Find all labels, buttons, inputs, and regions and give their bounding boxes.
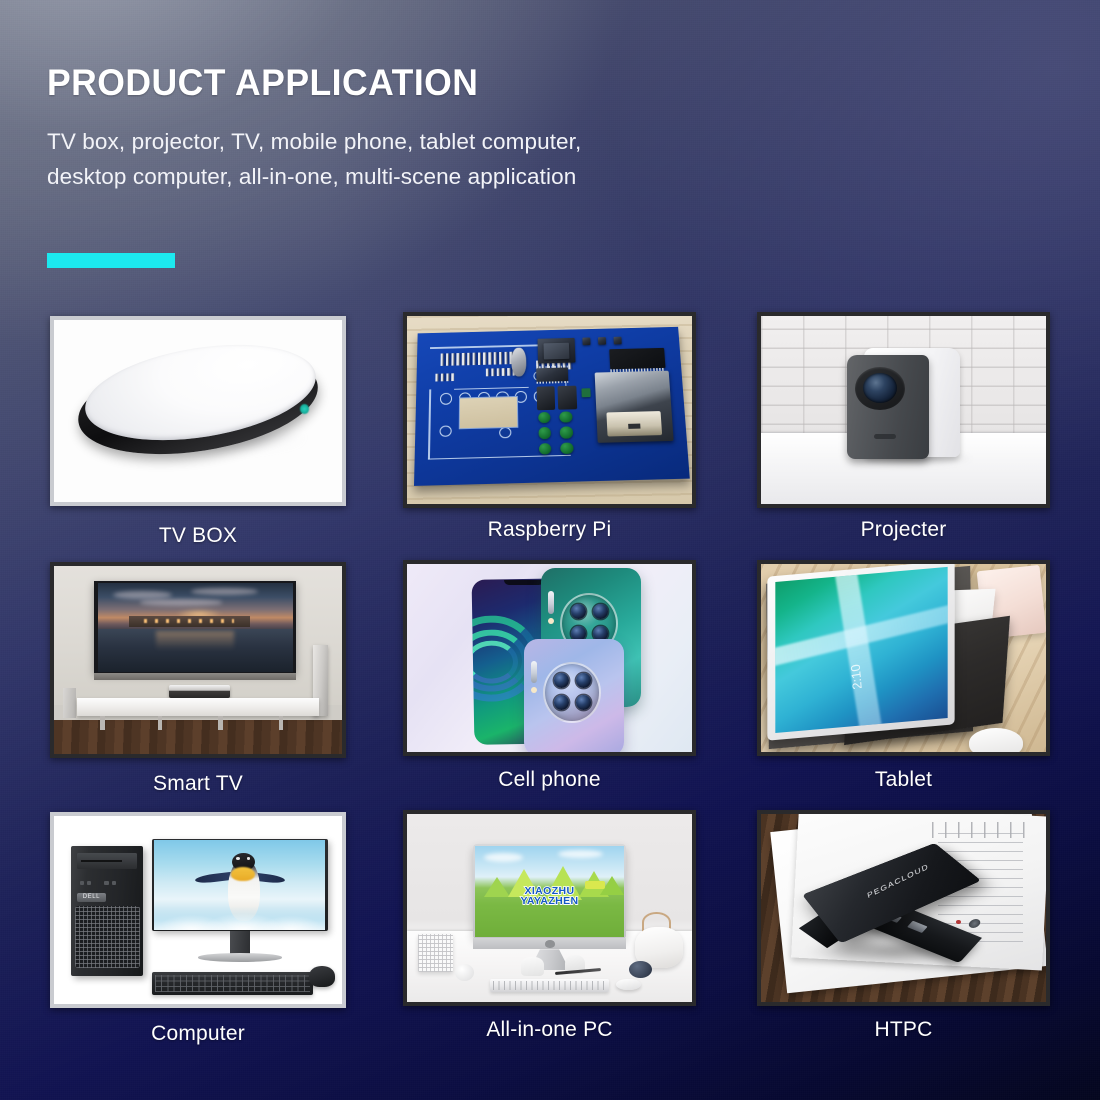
cell-phone-photo xyxy=(407,564,692,752)
computer-card[interactable]: DELL xyxy=(50,812,346,1008)
raspberry-pi-card[interactable] xyxy=(403,312,696,508)
cell-phone-card[interactable] xyxy=(403,560,696,756)
application-cell-htpc[interactable]: PEGACLOUD HTPC xyxy=(757,810,1050,1006)
smart-tv-card[interactable] xyxy=(50,562,346,758)
application-cell-tv-box[interactable]: TV BOX xyxy=(50,316,346,506)
application-cell-all-in-one[interactable]: XIAOZHU YAYAZHEN xyxy=(403,810,696,1006)
grid-row: DELL xyxy=(0,812,1100,1062)
caption-computer: Computer xyxy=(50,1022,346,1046)
tablet-clock: 2:10 xyxy=(845,627,880,690)
tv-box-led-icon xyxy=(300,404,309,414)
tablet-card[interactable]: 2:10 xyxy=(757,560,1050,756)
caption-tv-box: TV BOX xyxy=(50,524,346,548)
application-cell-smart-tv[interactable]: Smart TV xyxy=(50,562,346,758)
htpc-card[interactable]: PEGACLOUD xyxy=(757,810,1050,1006)
product-application-page: PRODUCT APPLICATION TV box, projector, T… xyxy=(0,0,1100,1100)
page-subtitle: TV box, projector, TV, mobile phone, tab… xyxy=(47,125,767,193)
caption-tablet: Tablet xyxy=(757,768,1050,792)
caption-htpc: HTPC xyxy=(757,1018,1050,1042)
application-grid: TV BOX xyxy=(0,312,1100,1062)
computer-photo: DELL xyxy=(54,816,342,1004)
application-cell-projector[interactable]: Projecter xyxy=(757,312,1050,508)
grid-row: TV BOX xyxy=(0,312,1100,562)
all-in-one-card[interactable]: XIAOZHU YAYAZHEN xyxy=(403,810,696,1006)
caption-projector: Projecter xyxy=(757,518,1050,542)
projector-card[interactable] xyxy=(757,312,1050,508)
caption-cell-phone: Cell phone xyxy=(403,768,696,792)
page-title: PRODUCT APPLICATION xyxy=(47,62,738,103)
tablet-photo: 2:10 xyxy=(761,564,1046,752)
caption-smart-tv: Smart TV xyxy=(50,772,346,796)
apple-logo-icon xyxy=(545,940,555,948)
tv-box-photo xyxy=(54,320,342,502)
accent-bar xyxy=(47,253,175,268)
application-cell-cell-phone[interactable]: Cell phone xyxy=(403,560,696,756)
header: PRODUCT APPLICATION TV box, projector, T… xyxy=(47,62,767,194)
application-cell-raspberry-pi[interactable]: Raspberry Pi xyxy=(403,312,696,508)
htpc-photo: PEGACLOUD xyxy=(761,814,1046,1002)
application-cell-computer[interactable]: DELL xyxy=(50,812,346,1008)
projector-lens-icon xyxy=(863,373,897,403)
smart-tv-photo xyxy=(54,566,342,754)
caption-raspberry-pi: Raspberry Pi xyxy=(403,518,696,542)
aio-screen-text: XIAOZHU YAYAZHEN xyxy=(490,886,609,907)
caption-all-in-one: All-in-one PC xyxy=(403,1018,696,1042)
tv-box-card[interactable] xyxy=(50,316,346,506)
tower-brand-label: DELL xyxy=(77,893,106,902)
projector-photo xyxy=(761,316,1046,504)
raspberry-pi-photo xyxy=(407,316,692,504)
grid-row: Smart TV xyxy=(0,562,1100,812)
application-cell-tablet[interactable]: 2:10 Tablet xyxy=(757,560,1050,756)
all-in-one-photo: XIAOZHU YAYAZHEN xyxy=(407,814,692,1002)
